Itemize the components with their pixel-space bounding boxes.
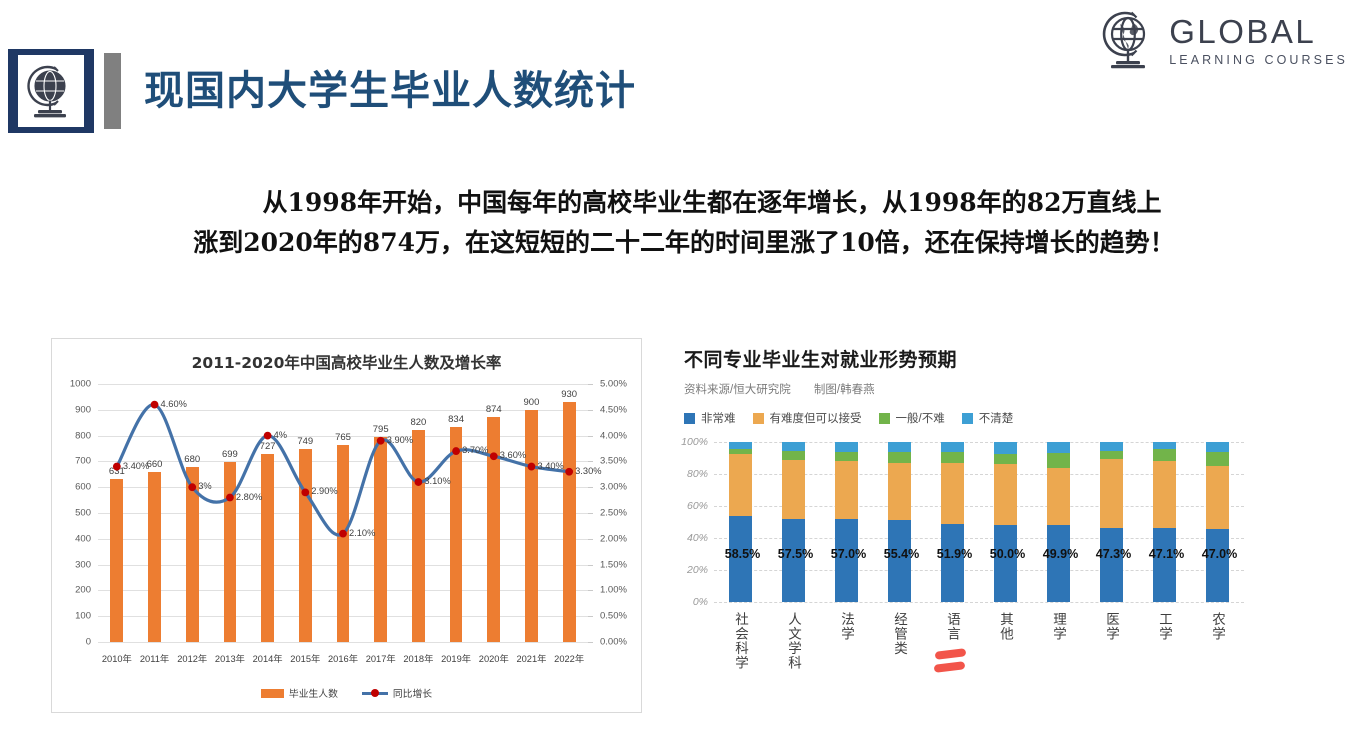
- stack-segment: [835, 442, 857, 452]
- stacked-bar: [835, 442, 857, 602]
- growth-rate-label: 3.70%: [462, 445, 488, 455]
- y-axis-tick: 0%: [693, 596, 708, 608]
- employment-chart-subtitle: 资料来源/恒大研究院 制图/韩春燕: [684, 381, 1264, 397]
- legend-item[interactable]: 不清楚: [962, 410, 1014, 426]
- stack-segment: [1100, 459, 1122, 528]
- growth-rate-label: 3.60%: [500, 450, 526, 460]
- stacked-bar: [1206, 442, 1228, 602]
- stack-segment: [835, 461, 857, 519]
- gridline: [98, 642, 588, 643]
- stack-segment: [1206, 466, 1228, 529]
- header-accent-bar: [104, 53, 121, 129]
- x-axis-label: 2018年: [403, 651, 433, 665]
- stack-value-label: 49.9%: [1043, 547, 1078, 561]
- y-axis-tick: 500: [75, 508, 91, 519]
- credit-label: 制图/韩春燕: [814, 384, 875, 396]
- category-label: 理学: [1051, 612, 1066, 641]
- growth-rate-label: 3.10%: [424, 476, 450, 486]
- graduates-chart: 2011-2020年中国高校毕业生人数及增长率 00.00%1000.50%20…: [51, 338, 642, 713]
- y-axis-tick: 1000: [70, 379, 91, 390]
- gridline: [714, 602, 1244, 603]
- category-label: 其他: [998, 612, 1013, 641]
- stack-segment: [1100, 442, 1122, 451]
- stack-segment: [1047, 468, 1069, 526]
- brand-tagline: LEARNING COURSES: [1169, 53, 1348, 67]
- legend-item[interactable]: 非常难: [684, 410, 736, 426]
- axis-tick-mark: [588, 461, 593, 462]
- stacked-bar: [1100, 442, 1122, 602]
- stack-segment: [782, 460, 804, 519]
- category-label: 法学: [839, 612, 854, 641]
- stack-segment: [994, 464, 1016, 525]
- stack-segment: [994, 525, 1016, 602]
- x-axis-label: 2022年: [554, 651, 584, 665]
- legend-bar-swatch: [261, 689, 284, 698]
- x-axis-label: 2014年: [253, 651, 283, 665]
- category-label: 社会科学: [733, 612, 748, 670]
- header-logo-badge: [8, 49, 94, 133]
- stack-value-label: 51.9%: [937, 547, 972, 561]
- growth-rate-label: 3.40%: [537, 461, 563, 471]
- growth-rate-label: 3%: [198, 481, 211, 491]
- y2-axis-tick: 1.00%: [600, 585, 627, 596]
- source-label: 资料来源/恒大研究院: [684, 384, 791, 396]
- brand-logo: GLOBAL LEARNING COURSES: [1093, 8, 1348, 74]
- axis-tick-mark: [588, 410, 593, 411]
- legend-label: 一般/不难: [896, 410, 945, 426]
- highlight-underline-mark: [934, 648, 966, 660]
- y-axis-tick: 60%: [687, 500, 708, 512]
- legend-label: 不清楚: [979, 410, 1014, 426]
- y-axis-tick: 800: [75, 430, 91, 441]
- stacked-bar: [941, 442, 963, 602]
- employment-legend: 非常难有难度但可以接受一般/不难不清楚: [684, 410, 1264, 426]
- y-axis-tick: 100: [75, 611, 91, 622]
- highlight-underline-mark: [933, 661, 965, 673]
- y2-axis-tick: 2.50%: [600, 508, 627, 519]
- slide: 现国内大学生毕业人数统计 GLOBAL LEARNING COU: [0, 0, 1361, 755]
- stack-value-label: 58.5%: [725, 547, 760, 561]
- stack-segment: [941, 524, 963, 602]
- stack-segment: [1047, 525, 1069, 602]
- x-axis-label: 2016年: [328, 651, 358, 665]
- stack-segment: [941, 442, 963, 452]
- y2-axis-tick: 1.50%: [600, 559, 627, 570]
- stack-segment: [729, 454, 751, 516]
- category-label: 医学: [1104, 612, 1119, 641]
- stack-value-label: 47.1%: [1149, 547, 1184, 561]
- growth-rate-label: 3.30%: [575, 466, 601, 476]
- x-axis-label: 2019年: [441, 651, 471, 665]
- growth-rate-label: 4%: [274, 430, 287, 440]
- stack-segment: [994, 454, 1016, 464]
- graduates-legend: 毕业生人数同比增长: [52, 686, 641, 700]
- legend-color-swatch: [879, 413, 890, 424]
- y-axis-tick: 40%: [687, 532, 708, 544]
- legend-item[interactable]: 有难度但可以接受: [753, 410, 862, 426]
- growth-rate-label: 3.40%: [123, 461, 149, 471]
- stack-segment: [1153, 461, 1175, 528]
- axis-tick-mark: [588, 513, 593, 514]
- paragraph-line-2: 涨到2020年的874万，在这短短的二十二年的时间里涨了10倍，还在保持增长的趋…: [104, 223, 1264, 263]
- y2-axis-tick: 0.00%: [600, 637, 627, 648]
- y-axis-tick: 80%: [687, 468, 708, 480]
- x-axis-label: 2017年: [366, 651, 396, 665]
- stack-segment: [782, 442, 804, 451]
- stacked-bar: [1153, 442, 1175, 602]
- legend-color-swatch: [684, 413, 695, 424]
- paragraph-line-1: 从1998年开始，中国每年的高校毕业生都在逐年增长，从1998年的82万直线上: [104, 183, 1264, 223]
- legend-color-swatch: [962, 413, 973, 424]
- y2-axis-tick: 4.00%: [600, 430, 627, 441]
- stacked-bar: [888, 442, 910, 602]
- globe-icon-svg: [25, 62, 77, 120]
- legend-line-swatch: [362, 689, 388, 698]
- axis-tick-mark: [588, 436, 593, 437]
- stack-value-label: 47.3%: [1096, 547, 1131, 561]
- stack-value-label: 55.4%: [884, 547, 919, 561]
- employment-expectation-chart: 不同专业毕业生对就业形势预期 资料来源/恒大研究院 制图/韩春燕 非常难有难度但…: [684, 345, 1264, 745]
- axis-tick-mark: [588, 487, 593, 488]
- stack-segment: [1100, 528, 1122, 602]
- stacked-bar: [1047, 442, 1069, 602]
- legend-label: 毕业生人数: [289, 686, 338, 700]
- stack-segment: [941, 463, 963, 524]
- category-label: 语言: [945, 612, 960, 641]
- axis-tick-mark: [588, 590, 593, 591]
- employment-chart-title: 不同专业毕业生对就业形势预期: [684, 345, 1264, 372]
- category-label: 农学: [1210, 612, 1225, 641]
- y-axis-tick: 700: [75, 456, 91, 467]
- stack-segment: [1047, 453, 1069, 467]
- graduates-plot-area: 00.00%1000.50%2001.00%3001.50%4002.00%50…: [98, 384, 588, 642]
- stack-segment: [1206, 442, 1228, 452]
- y2-axis-tick: 5.00%: [600, 379, 627, 390]
- y-axis-tick: 400: [75, 533, 91, 544]
- stack-segment: [835, 452, 857, 462]
- x-axis-label: 2015年: [290, 651, 320, 665]
- x-axis-label: 2013年: [215, 651, 245, 665]
- legend-item[interactable]: 一般/不难: [879, 410, 945, 426]
- x-axis-label: 2010年: [102, 651, 132, 665]
- legend-label: 非常难: [701, 410, 736, 426]
- legend-item[interactable]: 同比增长: [362, 686, 432, 700]
- axis-tick-mark: [588, 539, 593, 540]
- stack-segment: [1153, 528, 1175, 602]
- stack-segment: [1100, 451, 1122, 459]
- body-paragraph: 从1998年开始，中国每年的高校毕业生都在逐年增长，从1998年的82万直线上 …: [104, 183, 1264, 262]
- axis-tick-mark: [588, 565, 593, 566]
- growth-rate-label: 3.90%: [387, 435, 413, 445]
- x-axis-label: 2020年: [479, 651, 509, 665]
- category-label: 经管类: [892, 612, 907, 656]
- y-axis-tick: 200: [75, 585, 91, 596]
- stack-segment: [994, 442, 1016, 454]
- stacked-bar: [782, 442, 804, 602]
- y2-axis-tick: 3.00%: [600, 482, 627, 493]
- category-label: 工学: [1157, 612, 1172, 641]
- legend-item[interactable]: 毕业生人数: [261, 686, 338, 700]
- y-axis-tick: 100%: [681, 436, 708, 448]
- y2-axis-tick: 3.50%: [600, 456, 627, 467]
- y2-axis-tick: 0.50%: [600, 611, 627, 622]
- stack-segment: [941, 452, 963, 462]
- stack-segment: [1153, 449, 1175, 461]
- stacked-bar: [729, 442, 751, 602]
- legend-label: 同比增长: [393, 686, 432, 700]
- stack-segment: [782, 451, 804, 460]
- brand-name: GLOBAL: [1169, 15, 1316, 50]
- y-axis-tick: 900: [75, 404, 91, 415]
- stack-value-label: 50.0%: [990, 547, 1025, 561]
- growth-rate-label: 2.80%: [236, 492, 262, 502]
- globe-logo-icon: [1093, 8, 1159, 74]
- growth-rate-label: 4.60%: [161, 399, 187, 409]
- employment-plot-area: 0%20%40%60%80%100%58.5%社会科学57.5%人文学科57.0…: [714, 442, 1244, 602]
- legend-color-swatch: [753, 413, 764, 424]
- y2-axis-tick: 2.00%: [600, 533, 627, 544]
- axis-tick-mark: [588, 384, 593, 385]
- stack-segment: [1206, 452, 1228, 466]
- growth-rate-line: [98, 384, 588, 642]
- axis-tick-mark: [588, 616, 593, 617]
- axis-tick-mark: [588, 642, 593, 643]
- category-label: 人文学科: [786, 612, 801, 670]
- stack-value-label: 47.0%: [1202, 547, 1237, 561]
- stack-segment: [1153, 442, 1175, 449]
- stack-value-label: 57.0%: [831, 547, 866, 561]
- page-title: 现国内大学生毕业人数统计: [144, 58, 636, 116]
- x-axis-label: 2012年: [177, 651, 207, 665]
- y2-axis-tick: 4.50%: [600, 404, 627, 415]
- y-axis-tick: 20%: [687, 564, 708, 576]
- stack-segment: [888, 442, 910, 452]
- stack-value-label: 57.5%: [778, 547, 813, 561]
- globe-icon: [18, 55, 84, 127]
- legend-label: 有难度但可以接受: [770, 410, 862, 426]
- x-axis-label: 2011年: [140, 651, 169, 665]
- stack-segment: [1206, 529, 1228, 602]
- stacked-bar: [994, 442, 1016, 602]
- stack-segment: [888, 463, 910, 520]
- y-axis-tick: 0: [86, 637, 91, 648]
- y-axis-tick: 300: [75, 559, 91, 570]
- x-axis-label: 2021年: [516, 651, 546, 665]
- growth-rate-label: 2.90%: [311, 486, 337, 496]
- stack-segment: [729, 442, 751, 449]
- globe-logo-svg: [1093, 8, 1159, 74]
- growth-rate-label: 2.10%: [349, 528, 375, 538]
- y-axis-tick: 600: [75, 482, 91, 493]
- stack-segment: [1047, 442, 1069, 453]
- graduates-chart-title: 2011-2020年中国高校毕业生人数及增长率: [52, 351, 641, 373]
- stack-segment: [888, 452, 910, 463]
